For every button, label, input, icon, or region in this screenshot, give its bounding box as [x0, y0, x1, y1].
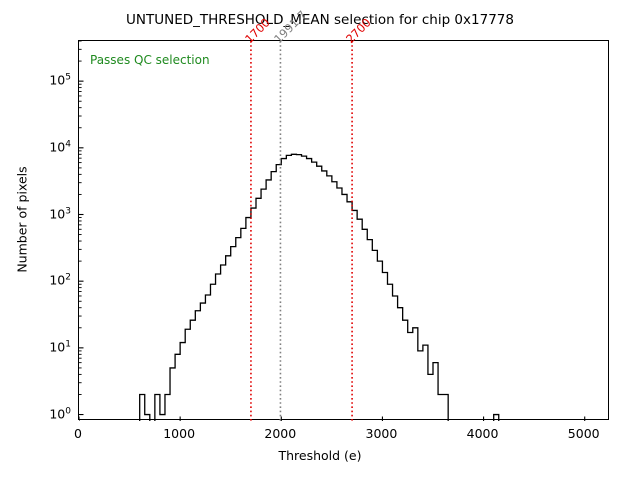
y-tick-10^2: 102 — [49, 273, 71, 288]
x-tick-4000: 4000 — [467, 426, 499, 441]
y-tick-10^3: 103 — [49, 206, 71, 221]
y-tick-10^0: 100 — [49, 406, 71, 421]
plot-area — [78, 40, 609, 420]
qc-selection-annotation: Passes QC selection — [90, 53, 210, 67]
y-axis-label: Number of pixels — [15, 110, 30, 330]
x-tick-5000: 5000 — [568, 426, 600, 441]
x-tick-3000: 3000 — [366, 426, 398, 441]
histogram-svg — [79, 41, 610, 421]
x-tick-1000: 1000 — [163, 426, 195, 441]
x-tick-0: 0 — [74, 426, 82, 441]
chart-title: UNTUNED_THRESHOLD_MEAN selection for chi… — [0, 12, 640, 28]
x-axis-label: Threshold (e) — [0, 448, 640, 463]
y-tick-10^5: 105 — [49, 73, 71, 88]
histogram-step-line — [140, 154, 499, 421]
y-tick-10^4: 104 — [49, 139, 71, 154]
chart-figure: UNTUNED_THRESHOLD_MEAN selection for chi… — [0, 0, 640, 480]
x-tick-2000: 2000 — [264, 426, 296, 441]
y-tick-10^1: 101 — [49, 339, 71, 354]
